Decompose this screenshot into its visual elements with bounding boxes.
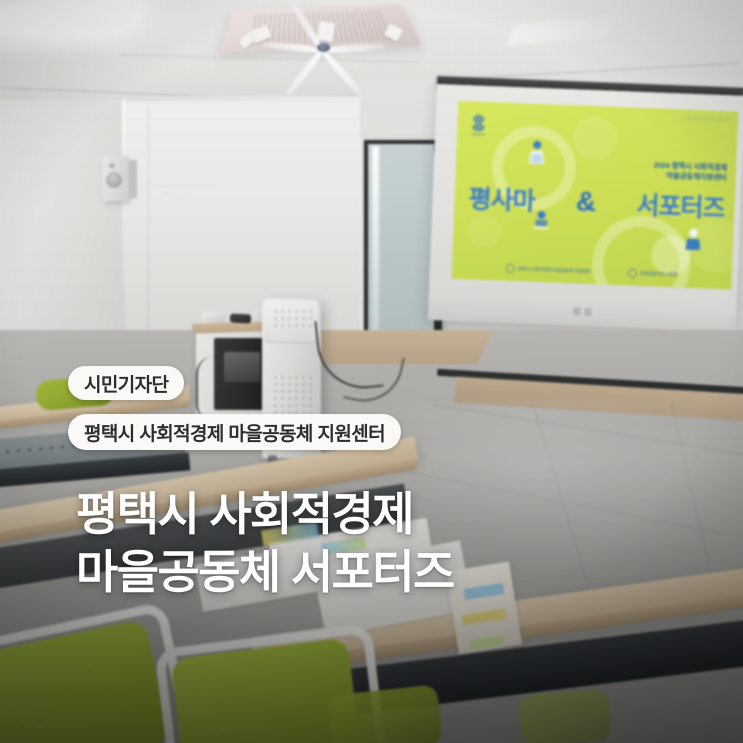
badge-citizen-reporter: 시민기자단: [68, 366, 184, 400]
photo-card: 사회적경제 마을공동체 2024 평택시 사회적경제 마을공동체지원센터: [0, 0, 743, 743]
badge-center-name: 평택시 사회적경제 마을공동체 지원센터: [68, 414, 401, 450]
text-overlay: 시민기자단 평택시 사회적경제 마을공동체 지원센터 평택시 사회적경제 마을공…: [0, 0, 743, 743]
page-title: 평택시 사회적경제 마을공동체 서포터즈: [76, 486, 454, 602]
